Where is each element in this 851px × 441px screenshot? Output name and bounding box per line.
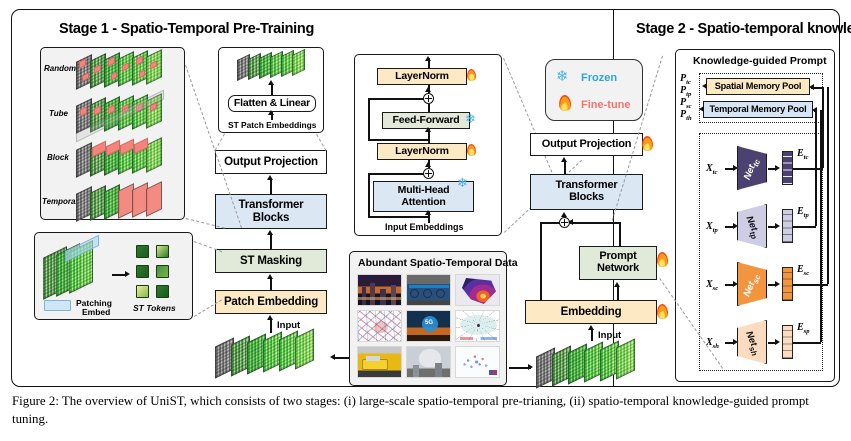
- s2-arrow-emb-pn: [614, 282, 620, 287]
- stage2-input-label: Input: [598, 330, 621, 341]
- prompt-arrow-spatial: [702, 83, 707, 89]
- enc3-out-arrow: [775, 281, 780, 287]
- stage1-transformer-blocks-label-l2: Blocks: [253, 212, 290, 224]
- route-etc-arrow: [809, 84, 814, 90]
- stage1-input-stack: [215, 333, 331, 381]
- s1-line-tb-op: [270, 180, 272, 194]
- mask-label-block: Block: [47, 153, 69, 162]
- encoder-output-esc: Esc: [797, 264, 809, 277]
- route-esp-v: [820, 110, 822, 342]
- stage1-st-masking[interactable]: ST Masking: [215, 249, 327, 273]
- data-thumb-5g-city: 5G: [406, 310, 451, 342]
- route-etc-h: [793, 168, 823, 170]
- mask-label-tube: Tube: [49, 109, 68, 118]
- route-esp-h: [793, 342, 821, 344]
- encoder-input-xtc: Xtc: [706, 163, 717, 176]
- data-thumb-bicycles: [406, 274, 451, 306]
- masking-strategies-panel: Random Tube: [40, 47, 185, 220]
- patching-input-stack: [43, 242, 115, 300]
- stage2-transformer-blocks-label-l2: Blocks: [569, 192, 604, 204]
- s1-arrow-tb-op: [267, 175, 273, 180]
- flatten-linear-panel: Flatten & Linear ST Patch Embeddings: [218, 47, 324, 133]
- mask-label-random: Random: [44, 64, 76, 73]
- encoder-vector-etp: [782, 209, 793, 243]
- encoder-input-xtp: Xtp: [706, 221, 718, 234]
- s2-arrow-in-emb: [588, 325, 594, 330]
- route-etp-v: [815, 110, 817, 226]
- s2-emb-left-v: [540, 222, 542, 301]
- prompt-arrow-temporal: [699, 106, 704, 112]
- stage1-patch-embedding[interactable]: Patch Embedding: [215, 290, 327, 314]
- stage2-output-projection-flame-icon: [641, 136, 653, 152]
- td-mha-snow-icon: ❄: [457, 177, 468, 190]
- td-residual-add-top: [423, 93, 434, 104]
- s2-emb-left-h: [540, 222, 560, 224]
- s1-arrow-in-pe: [267, 315, 273, 320]
- patching-embed-panel: Patching Embed ST Tokens: [34, 232, 193, 320]
- stage1-input-label: Input: [277, 320, 300, 331]
- spatial-memory-pool[interactable]: Spatial Memory Pool: [706, 78, 810, 95]
- stage1-output-projection[interactable]: Output Projection: [215, 150, 327, 174]
- enc2-out-arrow: [775, 223, 780, 229]
- encoder-output-esp: Esp: [797, 322, 810, 335]
- td-mha-label-l2: Attention: [401, 197, 445, 208]
- data-thumb-radial-flow: [455, 310, 500, 342]
- stage2-transformer-blocks[interactable]: Transformer Blocks: [530, 174, 643, 210]
- td-layernorm-bottom[interactable]: LayerNorm: [377, 143, 467, 160]
- transformer-detail-panel: LayerNorm Feed-Forward ❄ LayerNorm Multi…: [354, 54, 502, 236]
- td-skip2-h-bot: [368, 216, 428, 218]
- td-skip1-v: [368, 98, 370, 140]
- st-tokens-label: ST Tokens: [133, 303, 176, 313]
- s1-data-in-arrow: [330, 354, 335, 360]
- td-residual-add-bottom: [423, 168, 434, 179]
- knowledge-guided-prompt-panel: Knowledge-guided Prompt Spatial Memory P…: [675, 49, 835, 382]
- mask-stack-random: [76, 52, 182, 92]
- patching-arrow-line: [112, 274, 126, 276]
- stage2-input-stack: [536, 343, 652, 391]
- route-etp-arrow: [812, 107, 817, 113]
- input-embeddings-label: Input Embeddings: [385, 222, 464, 232]
- data-thumb-heatmap: [455, 274, 500, 306]
- kgp-title: Knowledge-guided Prompt: [693, 55, 827, 67]
- td-layernorm-top[interactable]: LayerNorm: [377, 68, 467, 85]
- data-thumb-road-network: [357, 310, 402, 342]
- s1-arrow-stm-tb: [267, 230, 273, 235]
- td-skip1-h-top: [368, 98, 424, 100]
- s2-prompt-to-add-arrow: [568, 219, 573, 225]
- enc1-out-arrow: [775, 165, 780, 171]
- s2-prompt-to-add-v: [619, 222, 621, 246]
- stage2-output-projection[interactable]: Output Projection: [530, 133, 643, 156]
- mask-stack-tube: [76, 96, 182, 136]
- enc4-out-arrow: [775, 339, 780, 345]
- mask-stack-block: [76, 140, 182, 180]
- route-etp-h: [793, 226, 816, 228]
- temporal-memory-pool[interactable]: Temporal Memory Pool: [703, 101, 813, 118]
- patching-embed-label-line2: Embed: [82, 307, 110, 317]
- s2-line-in-emb: [591, 329, 593, 341]
- td-layernorm-bottom-flame-icon: [467, 144, 477, 157]
- dash-decoder-2: [316, 134, 326, 151]
- stage1-title: Stage 1 - Spatio-Temporal Pre-Training: [59, 21, 314, 37]
- td-ln1-line2: [428, 104, 430, 112]
- s2-prompt-to-add-h: [570, 222, 620, 224]
- legend-frozen-label: Frozen: [581, 72, 617, 84]
- s1-arrow-pe-stm: [267, 274, 273, 279]
- legend-finetune-label: Fine-tune: [581, 99, 631, 111]
- encoder-vector-esc: [782, 267, 793, 301]
- s2-line-tb-op: [564, 162, 566, 174]
- td-mha-label-l1: Multi-Head: [398, 185, 450, 196]
- s2-data-in-arrow: [528, 364, 533, 370]
- td-skip2-v: [368, 173, 370, 217]
- dash-decoder-1: [215, 134, 225, 151]
- data-thumb-city-night: [357, 274, 402, 306]
- dash-patchpanel-1: [194, 241, 223, 252]
- stage2-prompt-network[interactable]: Prompt Network: [579, 246, 657, 280]
- s1-line-stm-tb: [270, 235, 272, 249]
- abundant-data-title: Abundant Spatio-Temporal Data: [358, 257, 518, 269]
- encoder-vector-esp: [782, 325, 793, 359]
- legend-box: ❄ Frozen Fine-tune: [545, 59, 643, 121]
- td-layernorm-top-flame-icon: [467, 69, 477, 82]
- legend-frozen-snow-icon: ❄: [556, 69, 569, 84]
- s2-line-emb-pn: [617, 287, 619, 300]
- td-input-arrow: [425, 210, 431, 215]
- flatten-up-arrow: [268, 80, 274, 85]
- figure-frame: Stage 1 - Spatio-Temporal Pre-Training R…: [11, 9, 840, 387]
- stage2-embedding[interactable]: Embedding: [525, 300, 657, 324]
- route-esc-h: [793, 284, 828, 286]
- s1-line-pe-stm: [270, 278, 272, 290]
- td-feed-forward-snow-icon: ❄: [465, 113, 476, 126]
- mask-stack-temporal: [76, 184, 182, 224]
- stage2-prompt-network-label-l2: Network: [597, 263, 639, 275]
- legend-finetune-flame-icon: [558, 95, 571, 112]
- data-thumb-scatter-map: [455, 346, 500, 378]
- td-ln2-arrow: [425, 162, 431, 167]
- flatten-in-arrow: [268, 110, 274, 115]
- s2-arrow-tb-op: [561, 157, 567, 162]
- stage2-title: Stage 2 - Spatio-temporal knowledge-guid…: [636, 21, 851, 37]
- data-thumb-taxi: [357, 346, 402, 378]
- s1-line-in-pe: [270, 319, 272, 333]
- route-esc-v: [827, 87, 829, 284]
- st-patch-embeddings-label: ST Patch Embeddings: [228, 120, 316, 130]
- abundant-data-panel: Abundant Spatio-Temporal Data 5G: [349, 251, 507, 386]
- figure-caption: Figure 2: The overview of UniST, which c…: [12, 392, 840, 429]
- route-etc-v: [822, 87, 824, 168]
- encoder-input-xsc: Xsc: [706, 279, 718, 292]
- td-ln1-arrow: [425, 87, 431, 92]
- stage2-embedding-flame-icon: [656, 304, 668, 320]
- td-top-arrow: [425, 56, 431, 61]
- mask-label-temporal: Temporal: [42, 197, 78, 206]
- data-thumb-power-plant: [406, 346, 451, 378]
- flatten-output-stack: [237, 52, 317, 82]
- stage1-transformer-blocks-label-l1: Transformer: [239, 199, 304, 211]
- patching-embed-swatch: [44, 300, 71, 311]
- flatten-up-line: [271, 84, 273, 95]
- stage2-prompt-network-flame-icon: [656, 252, 668, 268]
- encoder-output-etp: Etp: [797, 206, 809, 219]
- td-skip1-h-bot: [368, 139, 428, 141]
- td-ff-arrow: [425, 127, 431, 132]
- td-skip2-h-top: [368, 173, 424, 175]
- prompt-var-pth: Pth: [680, 109, 692, 122]
- encoder-output-etc: Etc: [797, 148, 808, 161]
- encoder-vector-etc: [782, 151, 793, 185]
